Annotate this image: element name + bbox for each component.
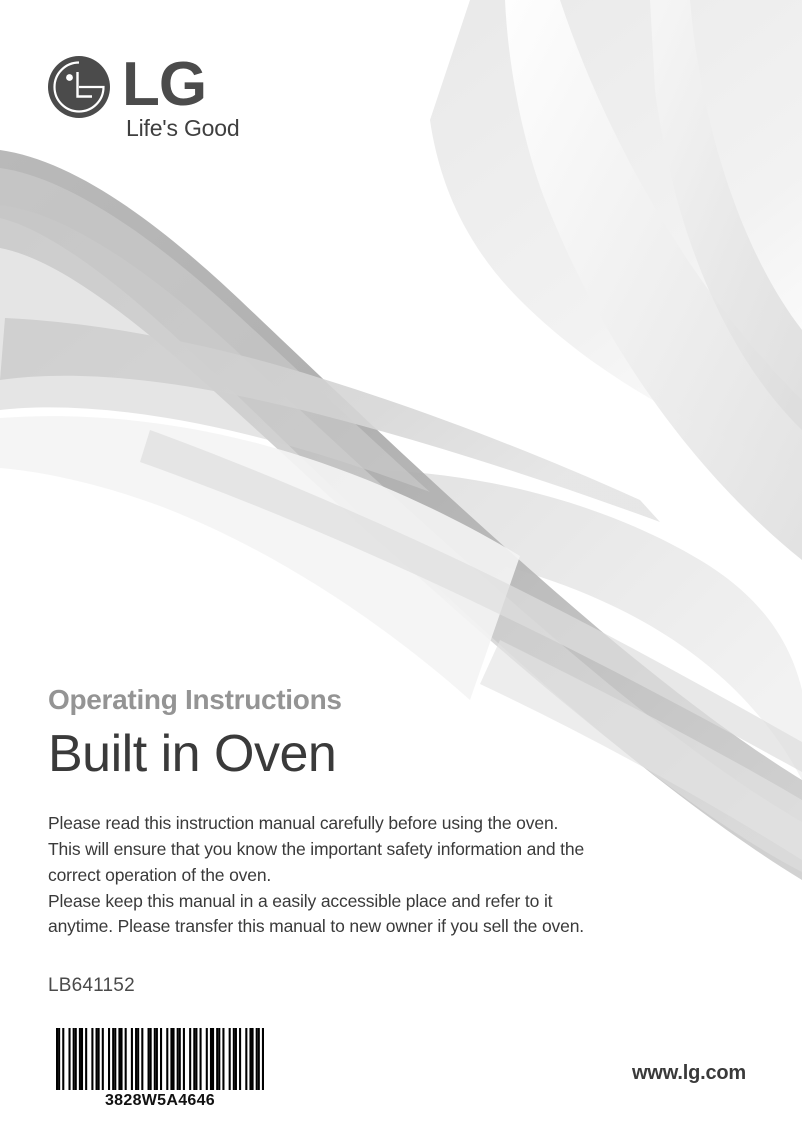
ribbon-faint-right-wedge	[430, 0, 802, 470]
ribbon-faint-lower-left	[0, 416, 520, 700]
manual-cover-page: LG Life's Good Operating Instructions Bu…	[0, 0, 802, 1138]
lg-face-logo-icon	[48, 56, 110, 118]
ribbon-faint-upper-right-2	[650, 0, 802, 430]
barcode-bars	[56, 1028, 264, 1090]
ribbon-lens-left	[0, 318, 660, 522]
lg-wordmark: LG	[122, 54, 206, 116]
barcode-number: 3828W5A4646	[56, 1092, 264, 1110]
ribbon-background-artwork	[0, 0, 802, 1138]
lg-logo: LG Life's Good	[48, 56, 308, 148]
intro-line: anytime. Please transfer this manual to …	[48, 914, 760, 940]
page-title: Built in Oven	[48, 725, 760, 783]
cover-text-block: Operating Instructions Built in Oven Ple…	[48, 684, 760, 940]
intro-line: Please read this instruction manual care…	[48, 811, 760, 837]
intro-line: Please keep this manual in a easily acce…	[48, 889, 760, 915]
document-kicker: Operating Instructions	[48, 684, 760, 716]
intro-paragraph: Please read this instruction manual care…	[48, 811, 760, 940]
model-number: LB641152	[48, 975, 135, 997]
lg-tagline: Life's Good	[126, 117, 239, 140]
intro-line: This will ensure that you know the impor…	[48, 837, 760, 863]
website-url: www.lg.com	[632, 1062, 746, 1085]
ribbon-faint-upper-right	[505, 0, 802, 560]
ribbon-pale-left-body	[0, 168, 430, 492]
barcode: 3828W5A4646	[56, 1028, 264, 1110]
intro-line: correct operation of the oven.	[48, 863, 760, 889]
